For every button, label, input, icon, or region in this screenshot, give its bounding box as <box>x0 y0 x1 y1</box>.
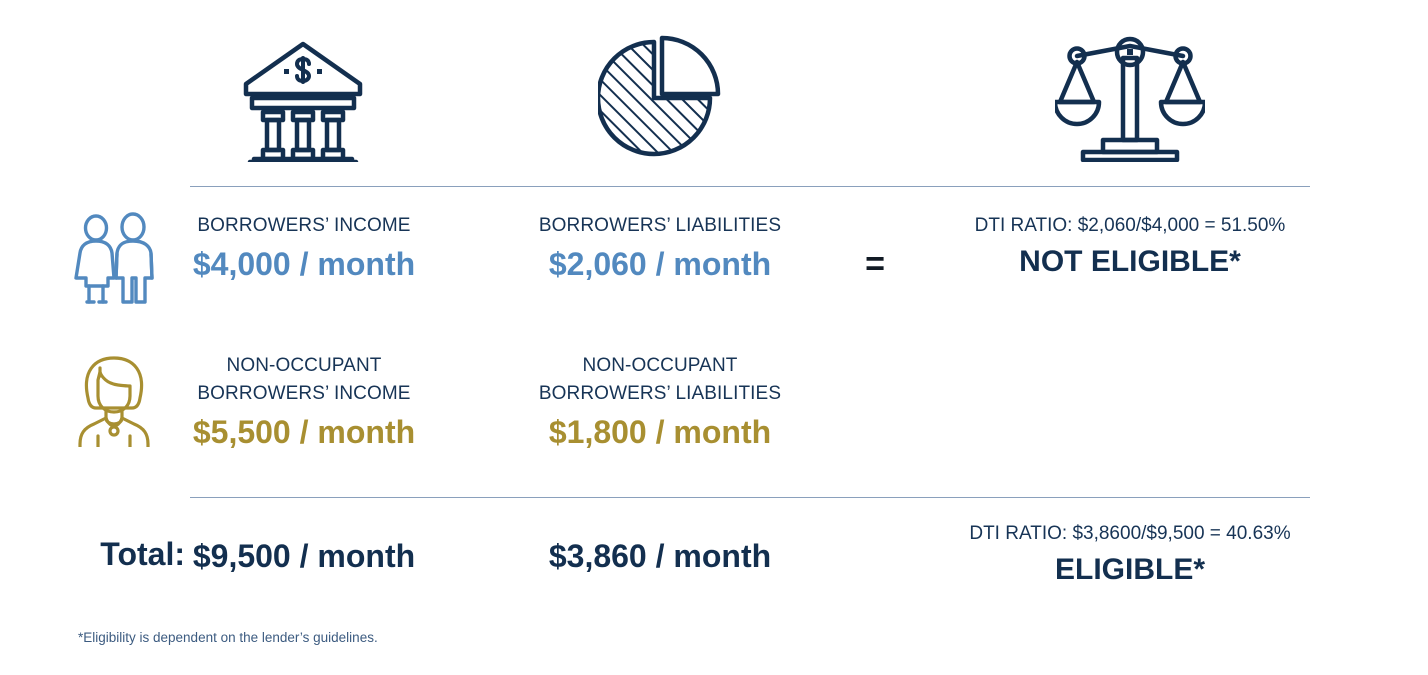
bank-building-dollar-icon <box>213 22 393 172</box>
borrowers-liabilities-cell: BORROWERS’ LIABILITIES $2,060 / month <box>520 212 800 286</box>
table-row-total: Total: $9,500 / month $3,860 / month DTI… <box>0 532 1428 602</box>
non-occupant-liabilities-amount: $1,800 / month <box>520 410 800 454</box>
non-occupant-borrower-icon <box>70 352 180 447</box>
borrowers-income-cell: BORROWERS’ INCOME $4,000 / month <box>185 212 423 286</box>
divider-top <box>190 186 1310 187</box>
balance-scales-icon <box>1040 22 1220 172</box>
total-eligibility-status-badge: ELIGIBLE* <box>930 549 1330 591</box>
non-occupant-liabilities-label-line1: NON-OCCUPANT <box>520 352 800 380</box>
borrowers-liabilities-label: BORROWERS’ LIABILITIES <box>520 212 800 240</box>
dti-ratio-infographic: BORROWERS’ INCOME $4,000 / month BORROWE… <box>0 0 1428 675</box>
dti-result-cell-borrowers: DTI RATIO: $2,060/$4,000 = 51.50% NOT EL… <box>930 212 1330 283</box>
eligibility-status-badge: NOT ELIGIBLE* <box>930 241 1330 283</box>
total-dti-ratio-text: DTI RATIO: $3,8600/$9,500 = 40.63% <box>930 520 1330 548</box>
table-row-non-occupant: NON-OCCUPANT BORROWERS’ INCOME $5,500 / … <box>0 352 1428 477</box>
non-occupant-liabilities-cell: NON-OCCUPANT BORROWERS’ LIABILITIES $1,8… <box>520 352 800 454</box>
non-occupant-liabilities-label-line2: BORROWERS’ LIABILITIES <box>520 380 800 408</box>
equals-sign: = <box>830 212 920 286</box>
pie-chart-icon <box>570 22 750 172</box>
total-liabilities-amount: $3,860 / month <box>520 534 800 578</box>
equals-glyph: = <box>830 242 920 286</box>
divider-bottom <box>190 497 1310 498</box>
footnote-disclaimer: *Eligibility is dependent on the lender’… <box>78 630 378 645</box>
icon-header-row <box>0 22 1428 172</box>
total-income-cell: $9,500 / month <box>185 532 423 578</box>
couple-borrowers-icon <box>70 212 180 304</box>
total-liabilities-cell: $3,860 / month <box>520 532 800 578</box>
table-row-borrowers: BORROWERS’ INCOME $4,000 / month BORROWE… <box>0 212 1428 330</box>
dti-ratio-text: DTI RATIO: $2,060/$4,000 = 51.50% <box>930 212 1330 240</box>
borrowers-income-label: BORROWERS’ INCOME <box>185 212 423 240</box>
borrowers-income-amount: $4,000 / month <box>185 242 423 286</box>
total-label: Total: <box>60 532 185 576</box>
total-income-amount: $9,500 / month <box>185 534 423 578</box>
borrowers-liabilities-amount: $2,060 / month <box>520 242 800 286</box>
non-occupant-income-label-line1: NON-OCCUPANT <box>185 352 423 380</box>
non-occupant-income-cell: NON-OCCUPANT BORROWERS’ INCOME $5,500 / … <box>185 352 423 454</box>
non-occupant-income-amount: $5,500 / month <box>185 410 423 454</box>
non-occupant-income-label-line2: BORROWERS’ INCOME <box>185 380 423 408</box>
dti-result-cell-total: DTI RATIO: $3,8600/$9,500 = 40.63% ELIGI… <box>930 520 1330 591</box>
